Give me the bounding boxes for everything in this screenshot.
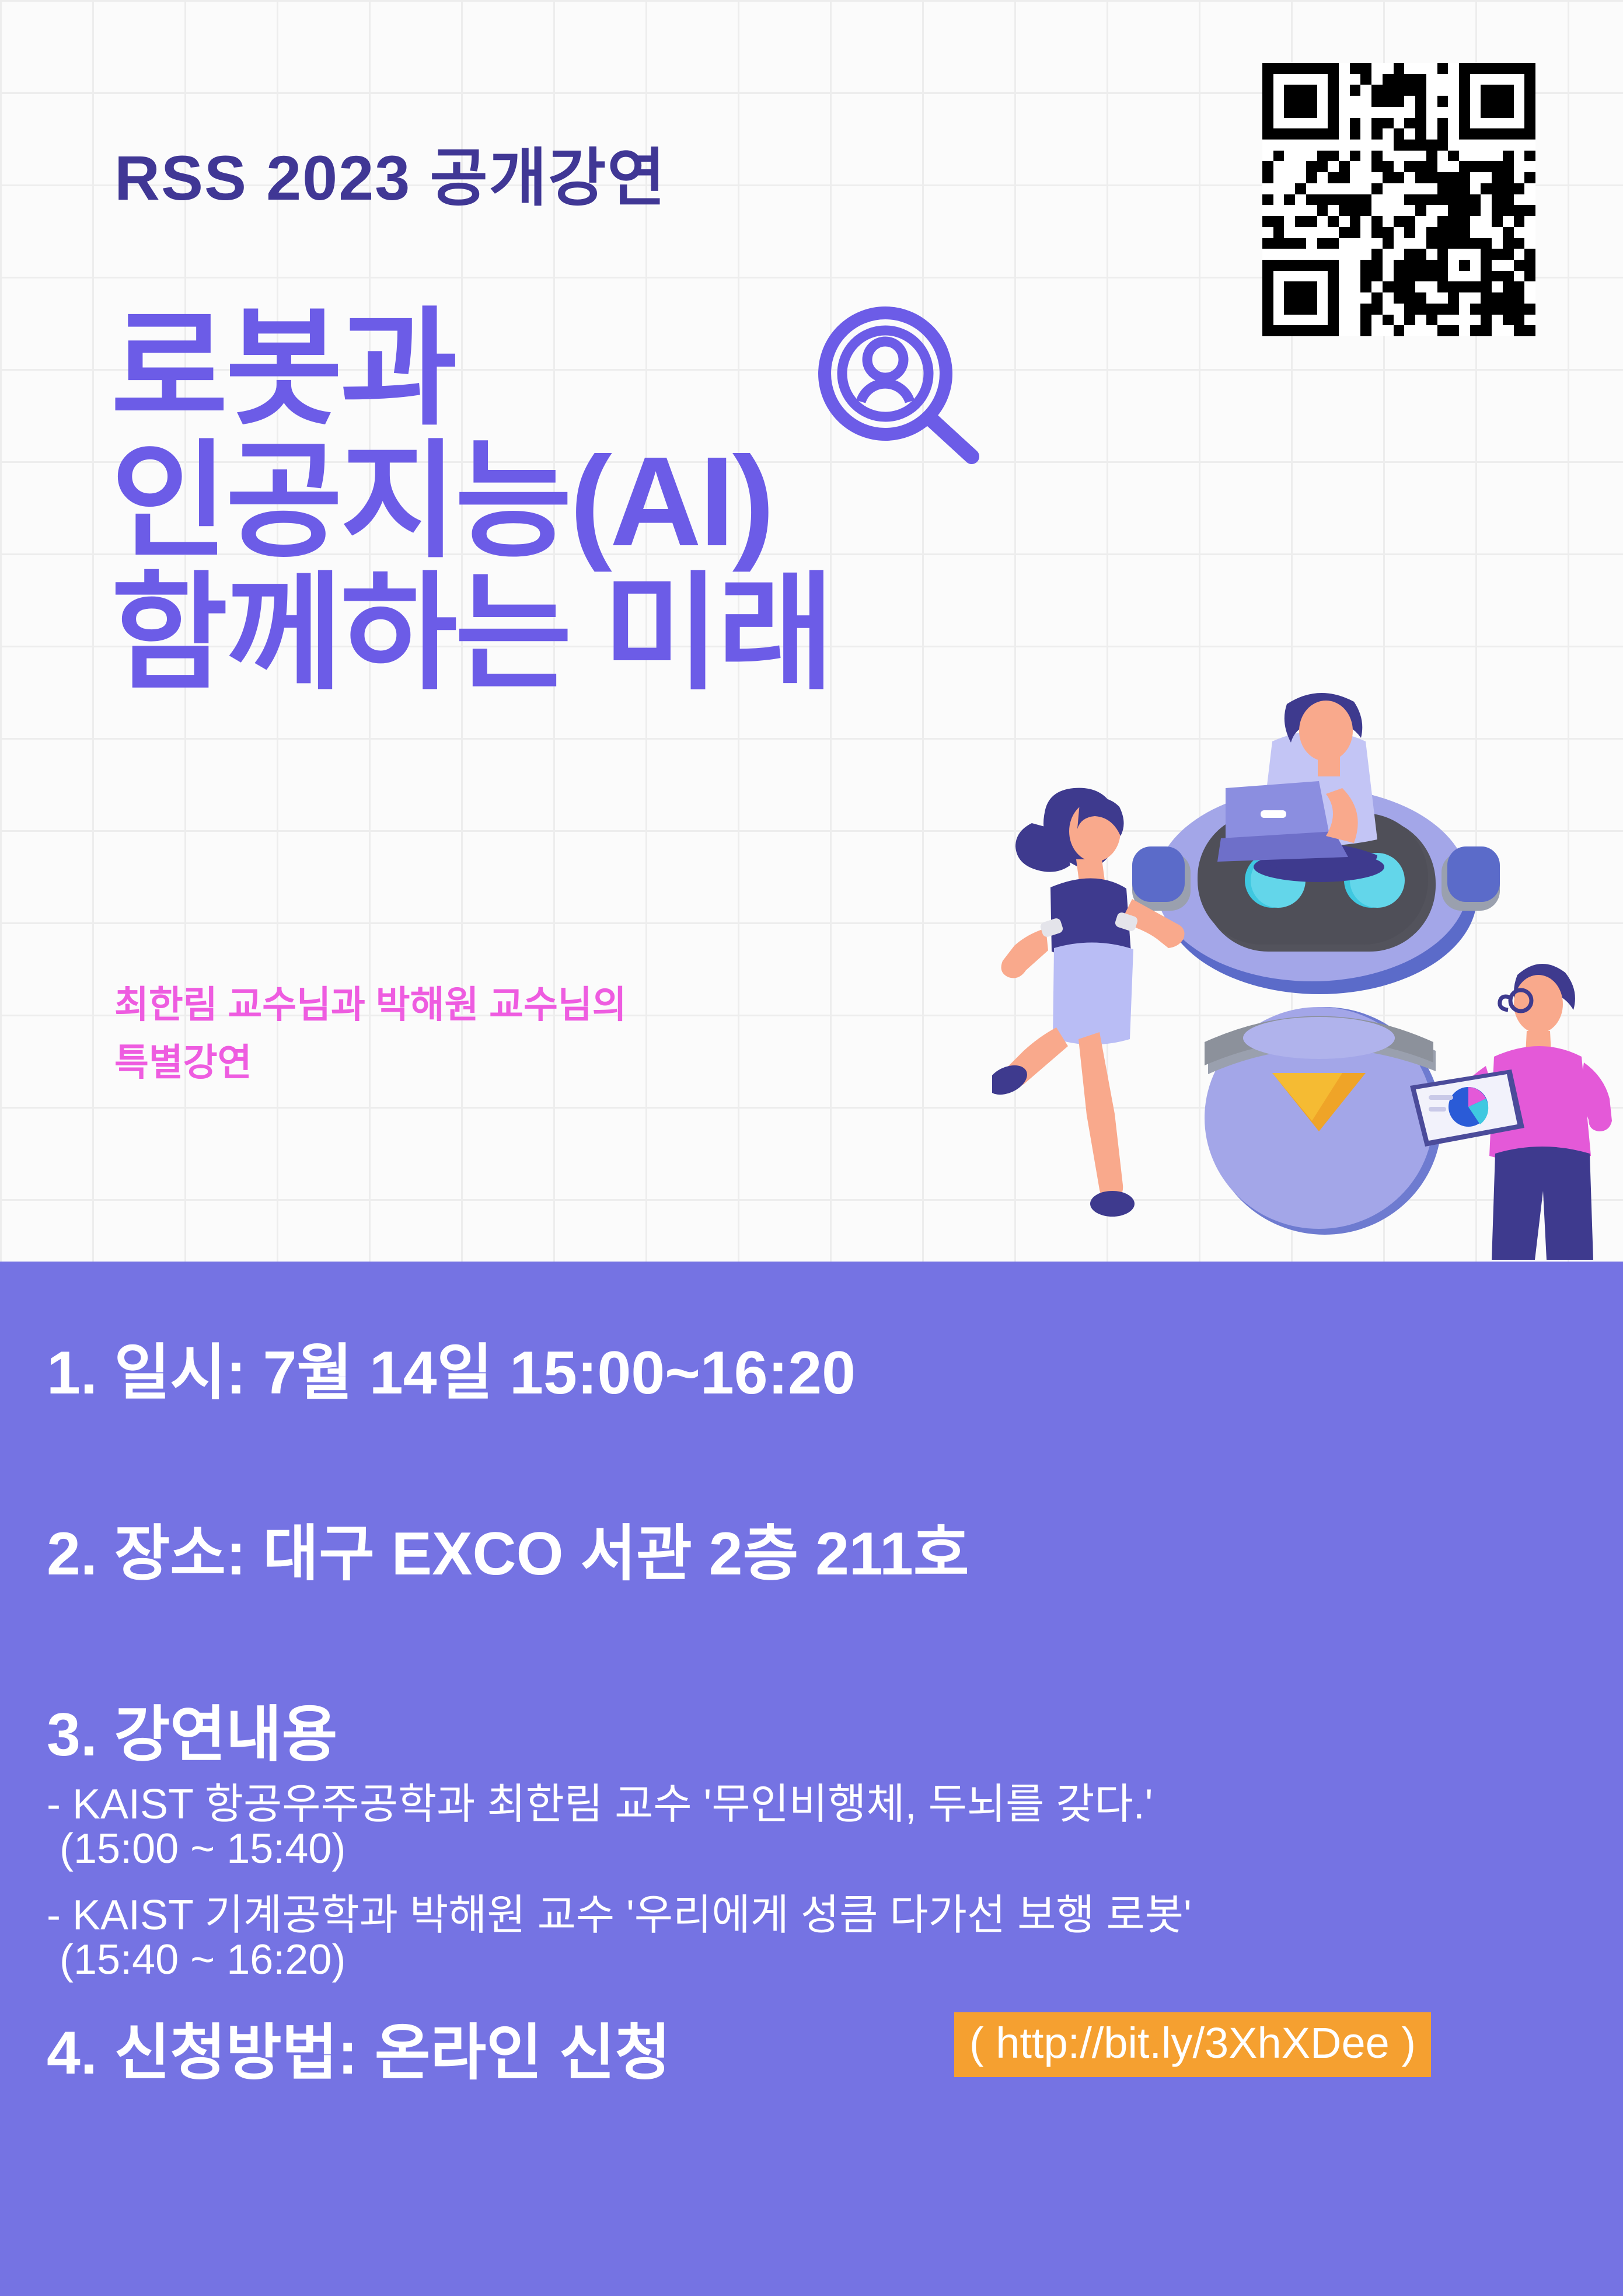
robot-illustration: [992, 595, 1623, 1262]
info-panel: 1. 일시: 7월 14일 15:00~16:20 2. 장소: 대구 EXCO…: [0, 1262, 1623, 2296]
talk-1-time: (15:00 ~ 15:40): [60, 1825, 345, 1873]
subtitle-line-2: 특별강연: [114, 1034, 627, 1092]
info-item-registration: 4. 신청방법: 온라인 신청: [47, 2003, 671, 2091]
talk-2-time: (15:40 ~ 16:20): [60, 1936, 345, 1984]
subtitle-line-1: 최한림 교수님과 박해원 교수님의: [114, 976, 627, 1034]
page-title: 로봇과 인공지능(AI) 함께하는 미래: [111, 304, 832, 701]
talk-1-title: - KAIST 항공우주공학과 최한림 교수 '무인비행체, 두뇌를 갖다.': [47, 1769, 1153, 1831]
headline-line-3: 함께하는 미래: [111, 568, 832, 701]
qr-code-icon[interactable]: [1262, 63, 1535, 336]
talk-2-title: - KAIST 기계공학과 박해원 교수 '우리에게 성큼 다가선 보행 로봇': [47, 1880, 1192, 1942]
page-kicker: RSS 2023 공개강연: [114, 127, 666, 218]
info-item-program-heading: 3. 강연내용: [47, 1685, 337, 1773]
headline-line-1: 로봇과: [111, 304, 832, 436]
registration-url-link[interactable]: ( http://bit.ly/3XhXDee ): [954, 2012, 1431, 2077]
person-search-icon: [813, 304, 988, 473]
info-item-datetime: 1. 일시: 7월 14일 15:00~16:20: [47, 1323, 856, 1411]
info-item-location: 2. 장소: 대구 EXCO 서관 2층 211호: [47, 1504, 969, 1592]
page-subtitle: 최한림 교수님과 박해원 교수님의 특별강연: [114, 976, 627, 1092]
headline-line-2: 인공지능(AI): [111, 436, 832, 569]
poster: RSS 2023 공개강연 로봇과 인공지능(AI) 함께하는 미래 최한림 교…: [0, 0, 1623, 2296]
